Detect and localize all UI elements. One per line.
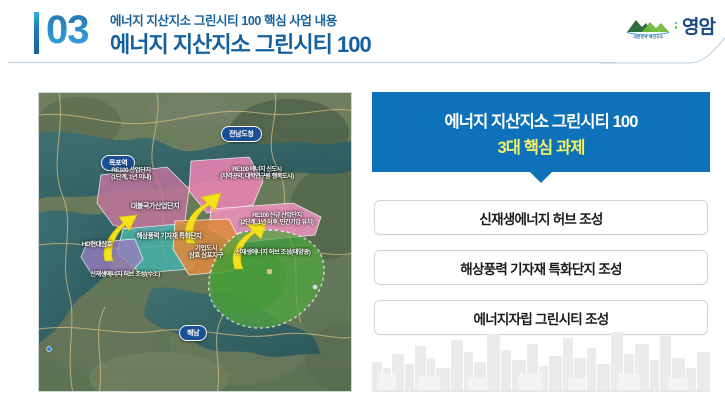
map-zone-line2: (지역공약, 대학연구원 행복도시): [220, 174, 294, 180]
map-zone-line1: 해상풍력 기자재 특화단지: [136, 233, 201, 240]
mountain-icon: 대한민국 혁신수도: [625, 14, 671, 40]
map-zone-line1: 신재생에너지 허브 조성(수소): [90, 271, 159, 278]
logo-tagline: 대한민국 혁신수도: [627, 35, 671, 40]
right-panel: 에너지 지산지소 그린시티 100 3대 핵심 과제 신재생에너지 허브 조성 …: [372, 92, 710, 392]
map-zone-label: 해상풍력 기자재 특화단지: [103, 233, 235, 241]
header-divider: [8, 62, 616, 63]
map-zone-label: 신재생에너지 허브 조성(태양광): [203, 249, 343, 256]
panel-heading-line1: 에너지 지산지소 그린시티 100: [372, 108, 710, 132]
map-zone-line1: RE100 에너지 신도시: [232, 167, 282, 173]
map-zone-line1: 대불국가산업단지: [131, 203, 179, 210]
city-skyline-decoration: [372, 324, 710, 392]
yeongam-logo: 대한민국 혁신수도 영암: [625, 12, 715, 42]
slide-root: 03 에너지 지산지소 그린시티 100 핵심 사업 내용 에너지 지산지소 그…: [0, 0, 725, 402]
map-zone-label: RE100 산업단지 (1단계, 1년 이내): [75, 167, 187, 181]
page-title: 에너지 지산지소 그린시티 100: [110, 27, 371, 59]
slide-header: 03 에너지 지산지소 그린시티 100 핵심 사업 내용 에너지 지산지소 그…: [0, 0, 725, 64]
map-zone-label: HD현대삼호: [61, 241, 133, 248]
map-place-pill[interactable]: 해남: [179, 325, 207, 341]
task-item-2[interactable]: 해상풍력 기자재 특화단지 조성: [374, 250, 708, 285]
map-zone-line1: RE100 신규 산업단지: [252, 213, 302, 219]
task-item-1[interactable]: 신재생에너지 허브 조성: [374, 200, 708, 235]
map-zone-label: 대불국가산업단지: [101, 203, 209, 211]
map-zone-line1: 신재생에너지 허브 조성(태양광): [236, 249, 311, 256]
satellite-map[interactable]: 전남도청 목포역 해남 RE100 산업단지 (1단계, 1년 이내) RE10…: [38, 92, 352, 392]
map-zone-line2: (2단계, 1년 이후, 민간기업 유치): [241, 220, 314, 226]
panel-heading-line2: 3대 핵심 과제: [372, 134, 710, 158]
logo-name: 영암: [682, 18, 715, 37]
logo-dots-decoration: [675, 22, 678, 29]
section-accent-bar: [34, 12, 39, 54]
map-zone-label: 신재생에너지 허브 조성(수소): [59, 271, 191, 278]
map-zone-label: RE100 신규 산업단지 (2단계, 1년 이후, 민간기업 유치): [211, 213, 343, 227]
map-zone-line1: RE100 산업단지: [111, 167, 150, 174]
section-number: 03: [46, 6, 89, 54]
down-arrow-icon: [530, 172, 552, 183]
panel-heading-box: 에너지 지산지소 그린시티 100 3대 핵심 과제: [372, 92, 710, 172]
map-place-pill[interactable]: 전남도청: [221, 126, 262, 142]
map-zone-label: RE100 에너지 신도시 (지역공약, 대학연구원 행복도시): [187, 167, 327, 181]
map-zone-line1: HD현대삼호: [82, 241, 112, 248]
map-zone-line2: (1단계, 1년 이내): [111, 174, 151, 181]
